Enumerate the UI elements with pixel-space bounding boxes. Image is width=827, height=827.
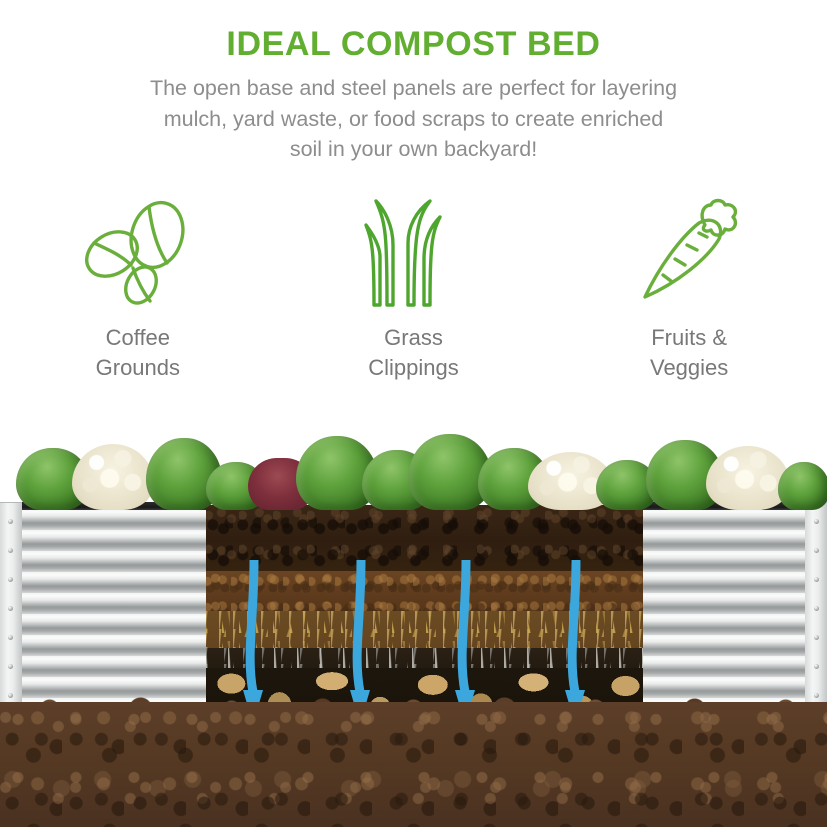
bolt [814,606,819,611]
corrugated-surface-right [643,509,827,710]
bolt [814,635,819,640]
feature-label-line-1: Fruits & [564,323,814,353]
bolt [814,577,819,582]
feature-icon-row: Coffee Grounds Grass Clippings [0,190,827,382]
feature-label-line-2: Clippings [288,353,538,383]
right-steel-panel [643,502,827,710]
bolt [8,548,13,553]
bolt [8,635,13,640]
feature-label-coffee-grounds: Coffee Grounds [13,323,263,382]
page-subtitle: The open base and steel panels are perfe… [69,73,759,165]
feature-label-line-1: Grass [288,323,538,353]
feature-label-fruits-veggies: Fruits & Veggies [564,323,814,382]
feature-label-line-2: Veggies [564,353,814,383]
feature-grass-clippings: Grass Clippings [288,190,538,382]
subtitle-line-3: soil in your own backyard! [69,134,759,165]
carrot-icon [564,190,814,315]
cauliflower [706,446,790,510]
cauliflower [72,444,154,510]
header: IDEAL COMPOST BED The open base and stee… [0,0,827,165]
plant-tops [0,430,827,510]
corrugated-surface-left [0,509,206,710]
ground-soil [0,702,827,827]
coffee-beans-icon [13,190,263,315]
feature-label-line-2: Grounds [13,353,263,383]
subtitle-line-1: The open base and steel panels are perfe… [69,73,759,104]
bolt [814,519,819,524]
bolt [814,548,819,553]
bolt [8,577,13,582]
grass-blades-icon [288,190,538,315]
bolt [814,664,819,669]
subtitle-line-2: mulch, yard waste, or food scraps to cre… [69,104,759,135]
bolt [8,664,13,669]
corner-post-left [0,502,22,710]
feature-coffee-grounds: Coffee Grounds [13,190,263,382]
corner-post-right [805,502,827,710]
feature-label-line-1: Coffee [13,323,263,353]
cabbage [778,462,827,510]
page-title: IDEAL COMPOST BED [0,26,827,63]
bolt [8,606,13,611]
raised-garden-bed-scene [0,430,827,827]
feature-label-grass-clippings: Grass Clippings [288,323,538,382]
feature-fruits-veggies: Fruits & Veggies [564,190,814,382]
left-steel-panel [0,502,206,710]
bolt [8,519,13,524]
